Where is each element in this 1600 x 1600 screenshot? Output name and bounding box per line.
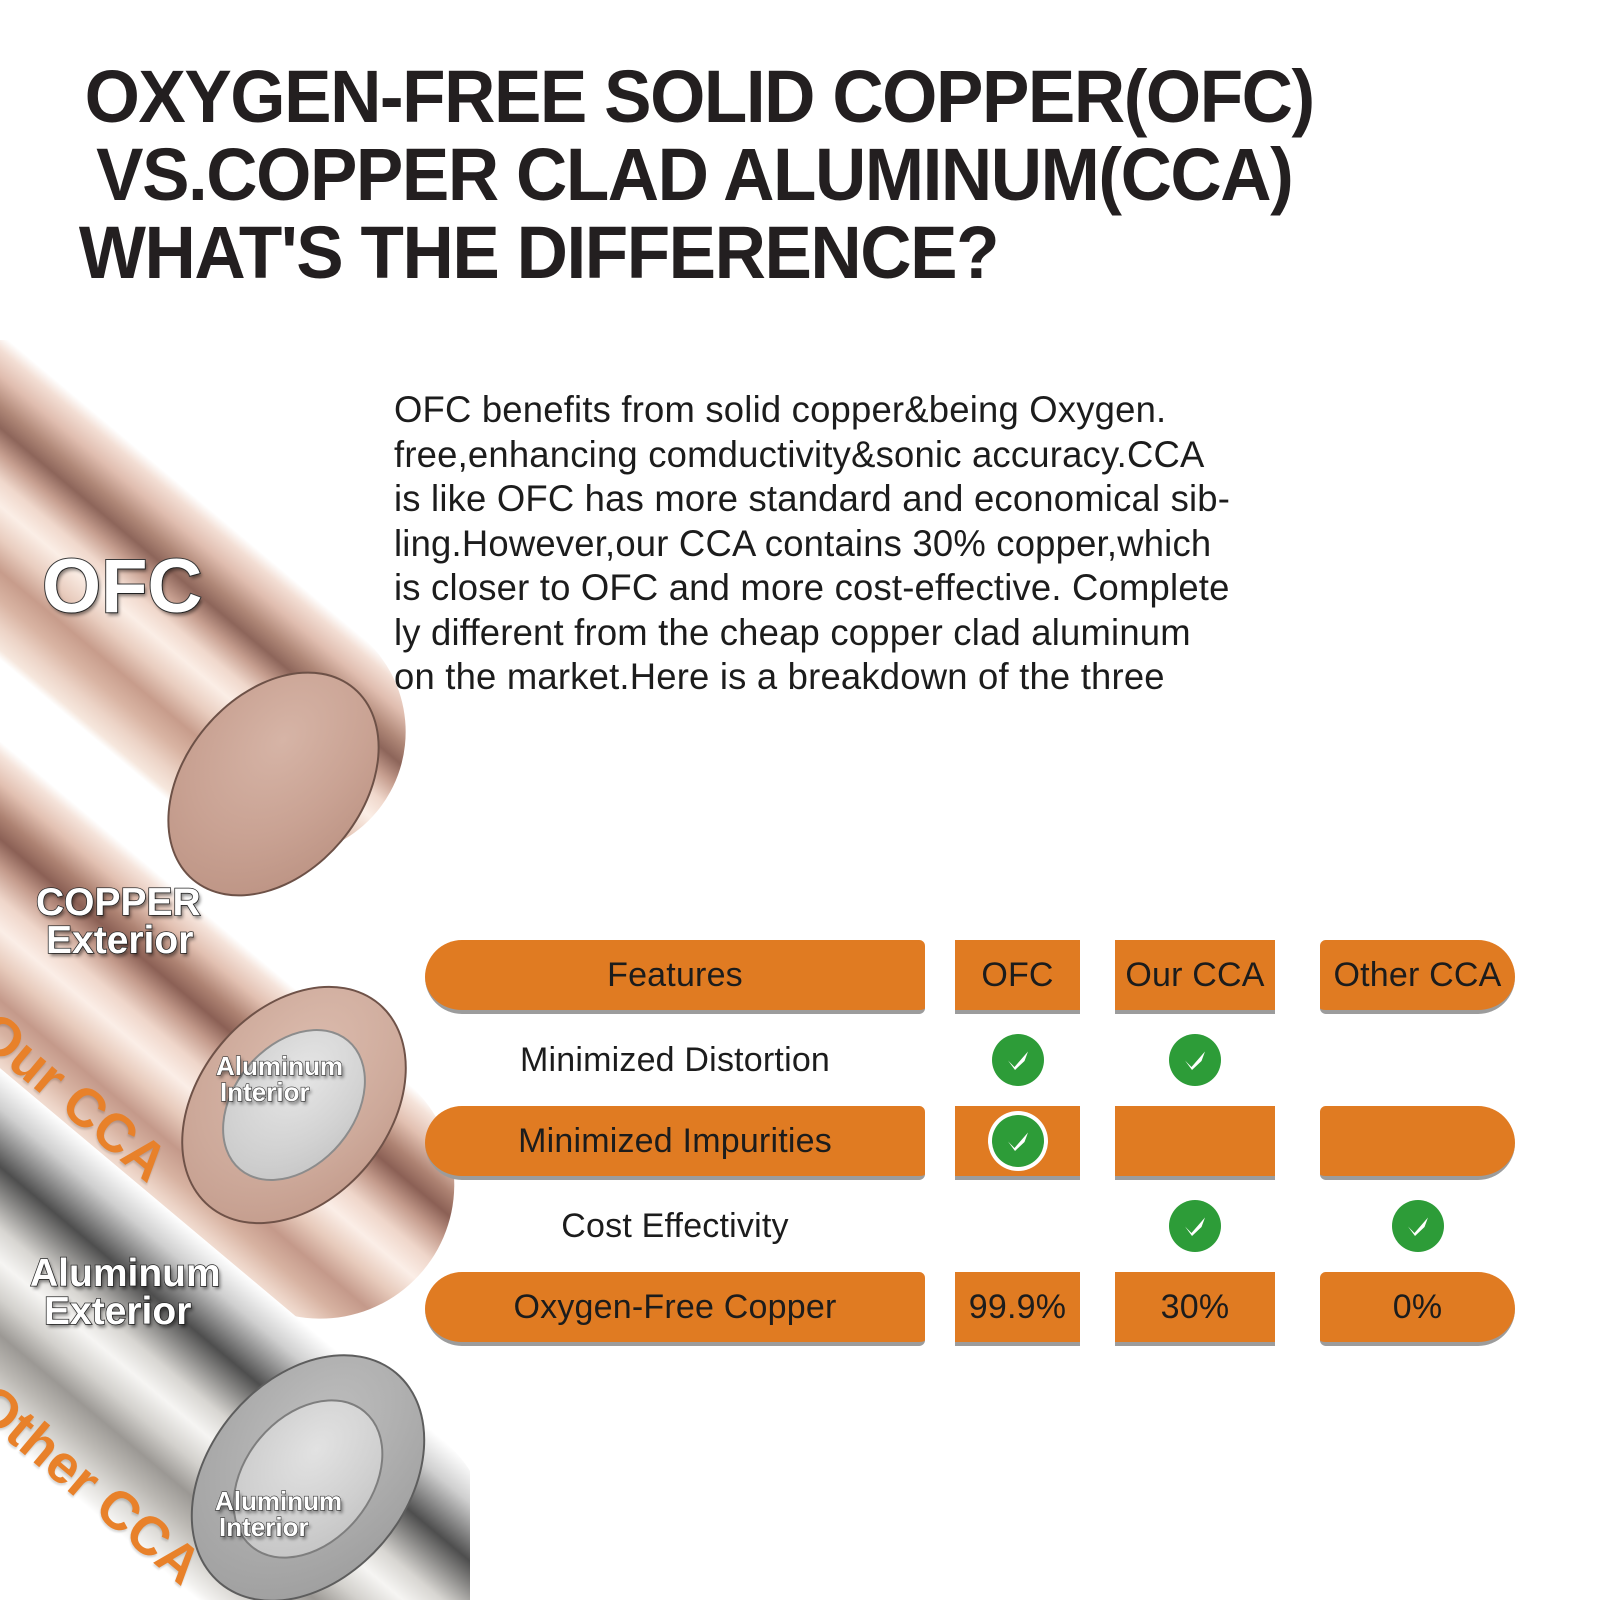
description-line-4: ling.However,our CCA contains 30% copper… <box>394 522 1507 567</box>
check-icon <box>992 1115 1044 1167</box>
table-value-cell <box>1320 1189 1515 1263</box>
table-value-cell <box>1320 1106 1515 1180</box>
table-header-cell-3: Other CCA <box>1320 940 1515 1014</box>
table-value-cell: 99.9% <box>955 1272 1080 1346</box>
table-header-cell-0: Features <box>425 940 925 1014</box>
table-feature-cell: Cost Effectivity <box>425 1189 925 1263</box>
table-value-cell <box>955 1106 1080 1180</box>
table-value-text: 99.9% <box>969 1288 1066 1327</box>
description-line-6: ly different from the cheap copper clad … <box>394 611 1507 656</box>
description-paragraph: OFC benefits from solid copper&being Oxy… <box>394 388 1507 700</box>
description-line-3: is like OFC has more standard and econom… <box>394 477 1507 522</box>
table-value-cell <box>955 1023 1080 1097</box>
table-row: Oxygen-Free Copper99.9%30%0% <box>425 1272 1515 1346</box>
description-line-2: free,enhancing comductivity&sonic accura… <box>394 433 1507 478</box>
cable-diagram-illustration <box>0 340 470 1600</box>
page-title: OXYGEN-FREE SOLID COPPER(OFC) VS.COPPER … <box>75 58 1555 292</box>
check-icon <box>992 1034 1044 1086</box>
description-line-5: is closer to OFC and more cost-effective… <box>394 566 1507 611</box>
table-header-row: FeaturesOFCOur CCAOther CCA <box>425 940 1515 1014</box>
table-value-cell: 0% <box>1320 1272 1515 1346</box>
table-header-cell-2: Our CCA <box>1115 940 1275 1014</box>
title-line-2: VS.COPPER CLAD ALUMINUM(CCA) <box>75 136 1496 214</box>
title-line-1: OXYGEN-FREE SOLID COPPER(OFC) <box>75 58 1496 136</box>
table-value-text: 30% <box>1161 1288 1230 1327</box>
table-value-cell <box>1115 1106 1275 1180</box>
table-value-cell <box>1115 1189 1275 1263</box>
table-value-cell <box>955 1189 1080 1263</box>
table-value-cell <box>1320 1023 1515 1097</box>
check-icon <box>1392 1200 1444 1252</box>
table-row: Minimized Distortion <box>425 1023 1515 1097</box>
description-line-7: on the market.Here is a breakdown of the… <box>394 655 1507 700</box>
table-value-cell <box>1115 1023 1275 1097</box>
table-feature-cell: Minimized Distortion <box>425 1023 925 1097</box>
check-icon <box>1169 1034 1221 1086</box>
title-line-3: WHAT'S THE DIFFERENCE? <box>75 214 1496 292</box>
table-row: Minimized Impurities <box>425 1106 1515 1180</box>
table-feature-cell: Minimized Impurities <box>425 1106 925 1180</box>
table-header-cell-1: OFC <box>955 940 1080 1014</box>
table-value-text: 0% <box>1393 1288 1443 1327</box>
table-value-cell: 30% <box>1115 1272 1275 1346</box>
infographic-page: OXYGEN-FREE SOLID COPPER(OFC) VS.COPPER … <box>0 0 1600 1600</box>
check-icon <box>1169 1200 1221 1252</box>
comparison-table: FeaturesOFCOur CCAOther CCAMinimized Dis… <box>425 940 1515 1355</box>
table-row: Cost Effectivity <box>425 1189 1515 1263</box>
description-line-1: OFC benefits from solid copper&being Oxy… <box>394 388 1507 433</box>
table-feature-cell: Oxygen-Free Copper <box>425 1272 925 1346</box>
